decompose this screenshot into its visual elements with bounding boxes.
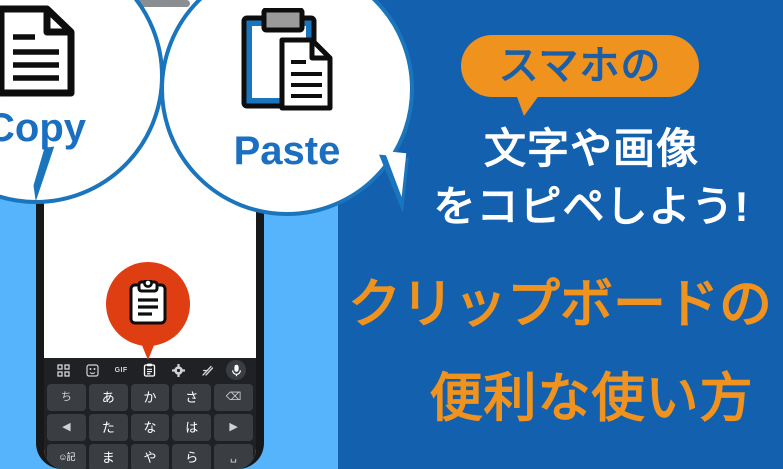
gear-icon[interactable] (169, 360, 189, 380)
key-backspace[interactable]: ⌫ (214, 384, 253, 411)
keyboard-row: ち あ か さ ⌫ (47, 384, 253, 411)
mic-icon[interactable] (226, 360, 246, 380)
sticker-icon[interactable] (82, 360, 102, 380)
keyboard-toolbar: GIF (44, 358, 256, 382)
clipboard-paste-icon (238, 8, 336, 123)
key-ra[interactable]: ら (172, 444, 211, 469)
headline-line-1: 文字や画像 (400, 128, 783, 170)
key-ka[interactable]: か (131, 384, 170, 411)
key-cursor-right[interactable]: ▶ (214, 414, 253, 441)
key-ma[interactable]: ま (89, 444, 128, 469)
japanese-keyboard: GIF (44, 358, 256, 469)
key-sa[interactable]: さ (172, 384, 211, 411)
poster-canvas: GIF (0, 0, 783, 469)
keyboard-row: ◀ た な は ▶ (47, 414, 253, 441)
subheadline-line-2: 便利な使い方 (400, 372, 783, 425)
gif-icon[interactable]: GIF (111, 360, 131, 380)
headline-line-2: をコピペしよう! (400, 186, 783, 228)
paste-speech-bubble: Paste (160, 0, 414, 216)
paste-bubble-content: Paste (164, 0, 410, 212)
key-na[interactable]: な (131, 414, 170, 441)
key-cursor-left[interactable]: ◀ (47, 414, 86, 441)
keyboard-rows: ち あ か さ ⌫ ◀ た な は ▶ ☺記 ま (44, 382, 256, 469)
key-ya[interactable]: や (131, 444, 170, 469)
key-space[interactable]: ␣ (214, 444, 253, 469)
key-chi[interactable]: ち (47, 384, 86, 411)
headline-badge-text: スマホの (499, 46, 662, 86)
copy-speech-bubble: Copy (0, 0, 164, 204)
clipboard-icon[interactable] (140, 360, 160, 380)
gif-label: GIF (115, 367, 128, 374)
clipboard-icon (128, 280, 168, 331)
copy-bubble-content: Copy (0, 0, 160, 200)
headline-badge: スマホの (461, 35, 699, 97)
clipboard-highlight-pin (106, 262, 190, 346)
key-emoji-symbol[interactable]: ☺記 (47, 444, 86, 469)
subheadline-line-1: クリップボードの (348, 278, 772, 331)
copy-label: Copy (0, 108, 86, 148)
handwriting-icon[interactable] (198, 360, 218, 380)
paste-label: Paste (234, 131, 341, 171)
key-ta[interactable]: た (89, 414, 128, 441)
document-icon (0, 5, 75, 102)
grid-icon[interactable] (53, 360, 73, 380)
headline-badge-tail (516, 94, 540, 116)
key-ha[interactable]: は (172, 414, 211, 441)
key-a[interactable]: あ (89, 384, 128, 411)
keyboard-row: ☺記 ま や ら ␣ (47, 444, 253, 469)
